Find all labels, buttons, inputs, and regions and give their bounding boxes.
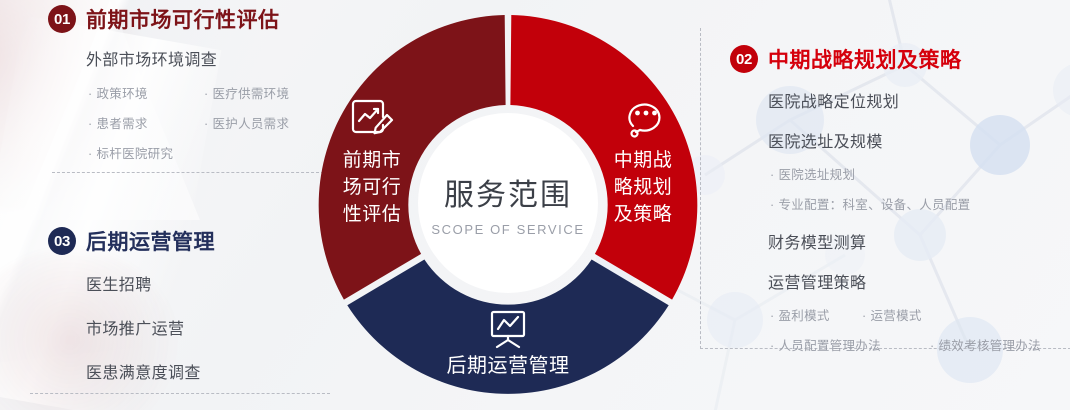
section-02-header: 02 中期战略规划及策略 bbox=[730, 44, 1041, 74]
detail-row: 盈利模式 运营模式 bbox=[770, 305, 1041, 324]
detail-row: 标杆医院研究 bbox=[88, 143, 289, 162]
section-01: 01 前期市场可行性评估 外部市场环境调查 政策环境 医疗供需环境 患者需求 医… bbox=[48, 4, 289, 173]
detail-item: 政策环境 bbox=[88, 83, 204, 102]
section-03-item: 医生招聘 bbox=[86, 271, 215, 295]
detail-item: 标杆医院研究 bbox=[88, 143, 204, 162]
divider-bottom-left bbox=[30, 393, 330, 394]
detail-row: 政策环境 医疗供需环境 bbox=[88, 83, 289, 102]
section-02: 02 中期战略规划及策略 医院战略定位规划 医院选址及规模 医院选址规划 专业配… bbox=[730, 44, 1041, 365]
section-01-badge: 01 bbox=[48, 5, 76, 33]
section-03: 03 后期运营管理 医生招聘 市场推广运营 医患满意度调查 bbox=[48, 226, 215, 383]
detail-item: 医护人员需求 bbox=[204, 113, 289, 132]
detail-item: 医院选址规划 bbox=[770, 164, 862, 183]
donut-center-title-en: SCOPE OF SERVICE bbox=[431, 222, 584, 237]
detail-item: 患者需求 bbox=[88, 113, 204, 132]
section-02-detail-list-1: 医院选址规划 专业配置：科室、设备、人员配置 bbox=[770, 164, 1041, 213]
section-03-title: 后期运营管理 bbox=[86, 226, 215, 256]
section-02-detail-list-2: 盈利模式 运营模式 bbox=[770, 305, 1041, 324]
section-03-header: 03 后期运营管理 bbox=[48, 226, 215, 256]
detail-row: 专业配置：科室、设备、人员配置 bbox=[770, 194, 1041, 213]
detail-row: 患者需求 医护人员需求 bbox=[88, 113, 289, 132]
detail-item: 专业配置：科室、设备、人员配置 bbox=[770, 194, 862, 213]
section-01-header: 01 前期市场可行性评估 bbox=[48, 4, 289, 34]
detail-item: 人员配置管理办法 bbox=[770, 335, 930, 354]
donut-center-hub: 服务范围 SCOPE OF SERVICE bbox=[418, 113, 598, 293]
section-02-detail-list-3: 人员配置管理办法 绩效考核管理办法 bbox=[770, 335, 1041, 354]
detail-item: 绩效考核管理办法 bbox=[930, 335, 1041, 354]
section-02-item: 财务模型测算 bbox=[768, 229, 1041, 253]
detail-item: 盈利模式 bbox=[770, 305, 862, 324]
section-01-subheading: 外部市场环境调查 bbox=[86, 46, 289, 70]
section-02-title: 中期战略规划及策略 bbox=[768, 44, 962, 74]
section-02-item: 医院战略定位规划 bbox=[768, 88, 1041, 112]
detail-row: 医院选址规划 bbox=[770, 164, 1041, 183]
section-02-item: 运营管理策略 bbox=[768, 269, 1041, 293]
section-01-title: 前期市场可行性评估 bbox=[86, 4, 280, 34]
section-01-detail-list: 政策环境 医疗供需环境 患者需求 医护人员需求 标杆医院研究 bbox=[88, 83, 289, 162]
infographic-canvas: 01 前期市场可行性评估 外部市场环境调查 政策环境 医疗供需环境 患者需求 医… bbox=[0, 0, 1070, 410]
detail-row: 人员配置管理办法 绩效考核管理办法 bbox=[770, 335, 1041, 354]
donut-center-title-cn: 服务范围 bbox=[444, 170, 572, 214]
section-03-badge: 03 bbox=[48, 227, 76, 255]
detail-item: 医疗供需环境 bbox=[204, 83, 289, 102]
section-03-item: 市场推广运营 bbox=[86, 315, 215, 339]
section-02-badge: 02 bbox=[730, 45, 758, 73]
section-02-item: 医院选址及规模 bbox=[768, 128, 1041, 152]
detail-item: 运营模式 bbox=[862, 305, 922, 324]
section-03-item: 医患满意度调查 bbox=[86, 359, 215, 383]
donut-chart: 服务范围 SCOPE OF SERVICE 前期市 场可行 性评估 bbox=[313, 8, 703, 402]
